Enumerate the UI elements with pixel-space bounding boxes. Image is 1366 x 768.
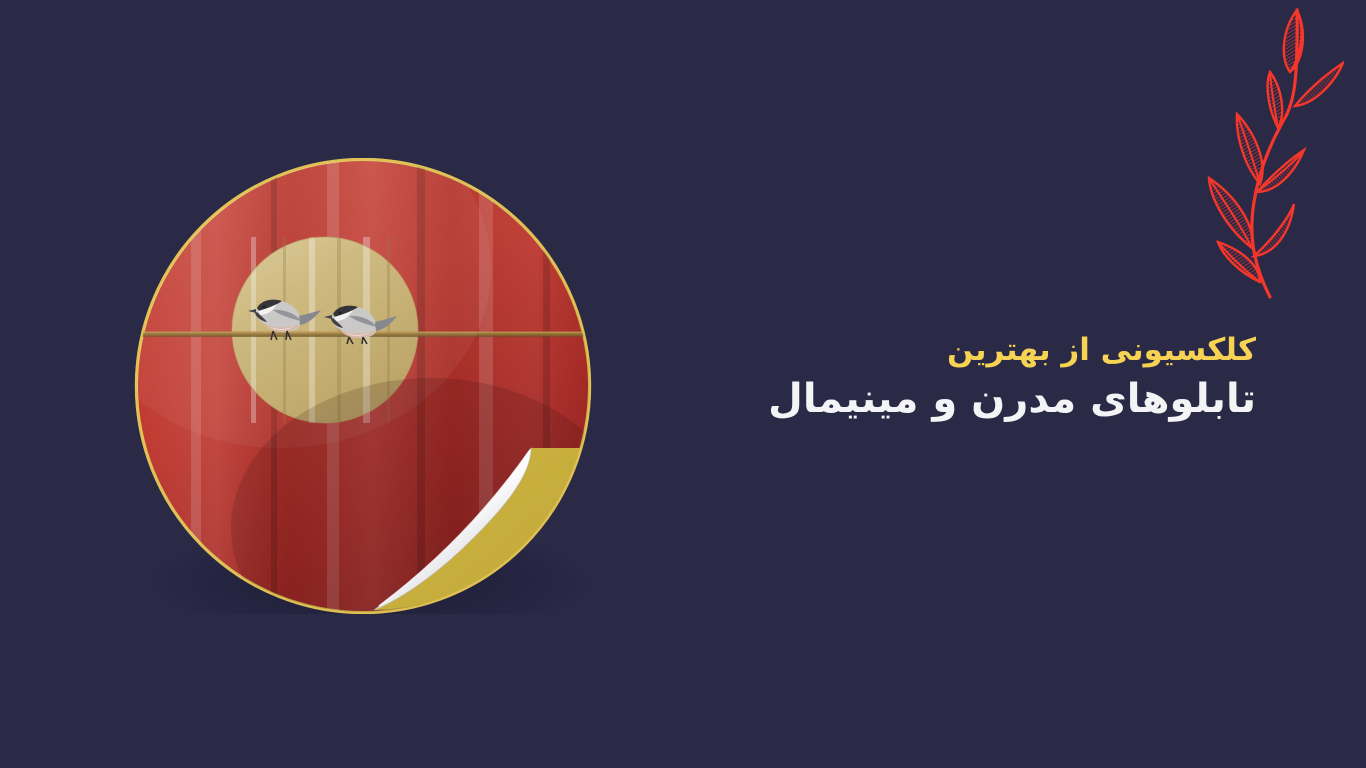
leaf-icon: [1295, 63, 1343, 106]
headline-line-1: کلکسیونی از بهترین: [556, 330, 1256, 371]
leaf-branch-icon: [1194, 0, 1344, 305]
headline-block: کلکسیونی از بهترین تابلوهای مدرن و مینیم…: [556, 330, 1256, 425]
artwork-sticker[interactable]: [131, 158, 595, 614]
promo-banner: کلکسیونی از بهترین تابلوهای مدرن و مینیم…: [0, 0, 1366, 768]
leaf-icon: [1257, 150, 1304, 192]
leaf-branch-decoration: [1194, 0, 1344, 305]
leaf-icon: [1268, 72, 1283, 128]
leaf-icon: [1254, 204, 1294, 256]
leaf-icon: [1209, 178, 1253, 248]
leaf-icon: [1218, 242, 1260, 282]
leaf-icon: [1284, 10, 1303, 72]
headline-line-2: تابلوهای مدرن و مینیمال: [556, 373, 1256, 425]
artwork-image: [131, 158, 595, 614]
leaf-icon: [1237, 114, 1263, 184]
